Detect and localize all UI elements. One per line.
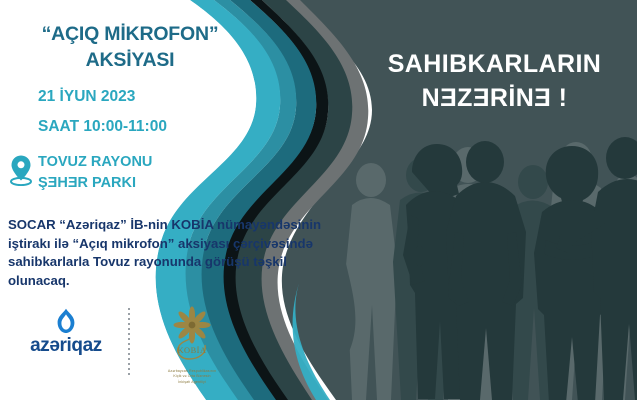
event-poster: “AÇIQ MİKROFON” AKSİYASI 21 İYUN 2023 SA… (0, 0, 637, 400)
poster-artwork (0, 0, 637, 400)
